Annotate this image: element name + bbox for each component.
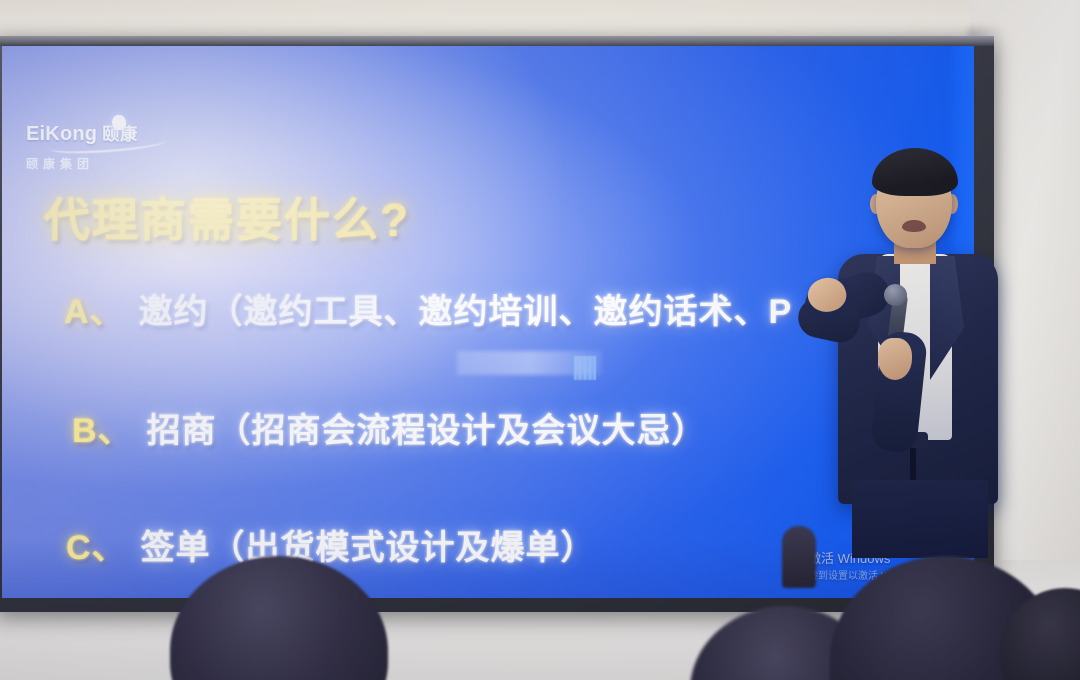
brand-logo-subtitle: 颐康集团 bbox=[26, 155, 176, 172]
bullet-text-a: 邀约（邀约工具、邀约培训、邀约话术、P bbox=[139, 293, 793, 331]
bullet-marker-b: B、 bbox=[72, 412, 133, 450]
presenter-trousers bbox=[852, 480, 988, 558]
presenter-mouth bbox=[902, 220, 926, 232]
bullet-text-b: 招商（招商会流程设计及会议大忌） bbox=[147, 412, 707, 450]
bullet-marker-a: A、 bbox=[64, 293, 125, 331]
presenter-mic-hand bbox=[878, 338, 912, 380]
slide-title: 代理商需要什么? bbox=[44, 184, 410, 250]
brand-logo: EiKong颐康 颐康集团 bbox=[26, 124, 176, 172]
watermark-line-2: 转到设置以激活 Windows。 bbox=[808, 569, 931, 584]
screen-glare-bars bbox=[574, 356, 596, 380]
bezel-highlight bbox=[0, 36, 994, 46]
presenter-hair bbox=[872, 148, 958, 196]
brand-logo-wordmark: EiKong颐康 bbox=[26, 124, 176, 144]
bullet-text-c: 签单（出货模式设计及爆单） bbox=[141, 529, 596, 567]
bullet-marker-c: C、 bbox=[66, 529, 127, 567]
logo-dot-icon bbox=[112, 115, 126, 130]
presenter bbox=[790, 150, 1020, 550]
photo-canvas: EiKong颐康 颐康集团 代理商需要什么? A、邀约（邀约工具、邀约培训、邀约… bbox=[0, 0, 1080, 680]
